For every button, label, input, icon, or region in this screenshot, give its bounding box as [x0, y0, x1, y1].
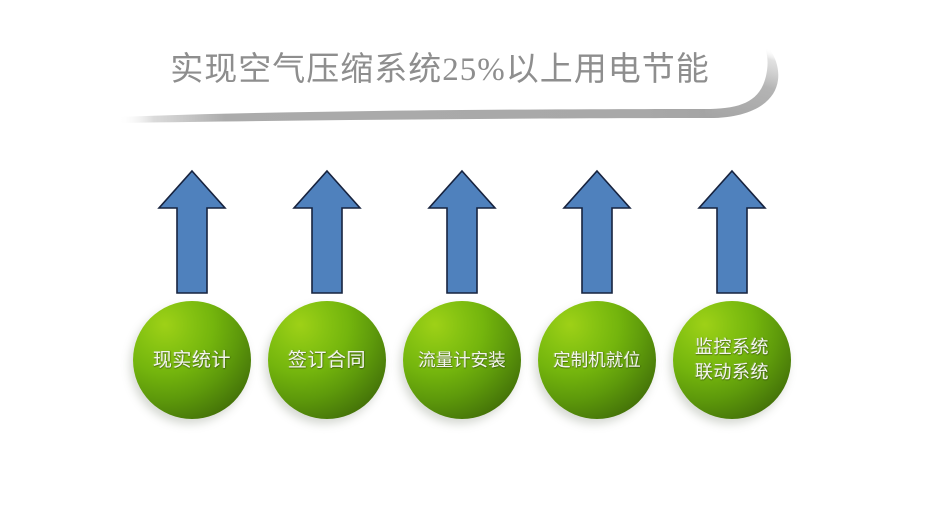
- process-node-4[interactable]: 定制机就位: [538, 301, 656, 419]
- title-banner: 实现空气压缩系统25%以上用电节能: [0, 24, 945, 144]
- process-node-2[interactable]: 签订合同: [268, 301, 386, 419]
- arrow-up-icon: [292, 168, 362, 296]
- process-node-label: 现实统计: [149, 348, 235, 373]
- process-node-label: 签订合同: [284, 348, 370, 373]
- process-node-label: 定制机就位: [549, 348, 645, 373]
- arrow-up-icon: [697, 168, 767, 296]
- process-node-label: 流量计安装: [414, 348, 510, 373]
- arrow-up-icon: [157, 168, 227, 296]
- page-title: 实现空气压缩系统25%以上用电节能: [150, 50, 730, 90]
- arrow-up-icon: [427, 168, 497, 296]
- process-node-3[interactable]: 流量计安装: [403, 301, 521, 419]
- process-node-5[interactable]: 监控系统 联动系统: [673, 301, 791, 419]
- banner-underline: [118, 109, 712, 123]
- process-node-label: 监控系统 联动系统: [691, 335, 773, 385]
- process-node-1[interactable]: 现实统计: [133, 301, 251, 419]
- step-arrow-3: [427, 168, 497, 296]
- slide-canvas: 实现空气压缩系统25%以上用电节能: [0, 0, 945, 529]
- step-arrow-2: [292, 168, 362, 296]
- step-arrow-4: [562, 168, 632, 296]
- arrow-up-icon: [562, 168, 632, 296]
- step-arrow-1: [157, 168, 227, 296]
- step-arrow-5: [697, 168, 767, 296]
